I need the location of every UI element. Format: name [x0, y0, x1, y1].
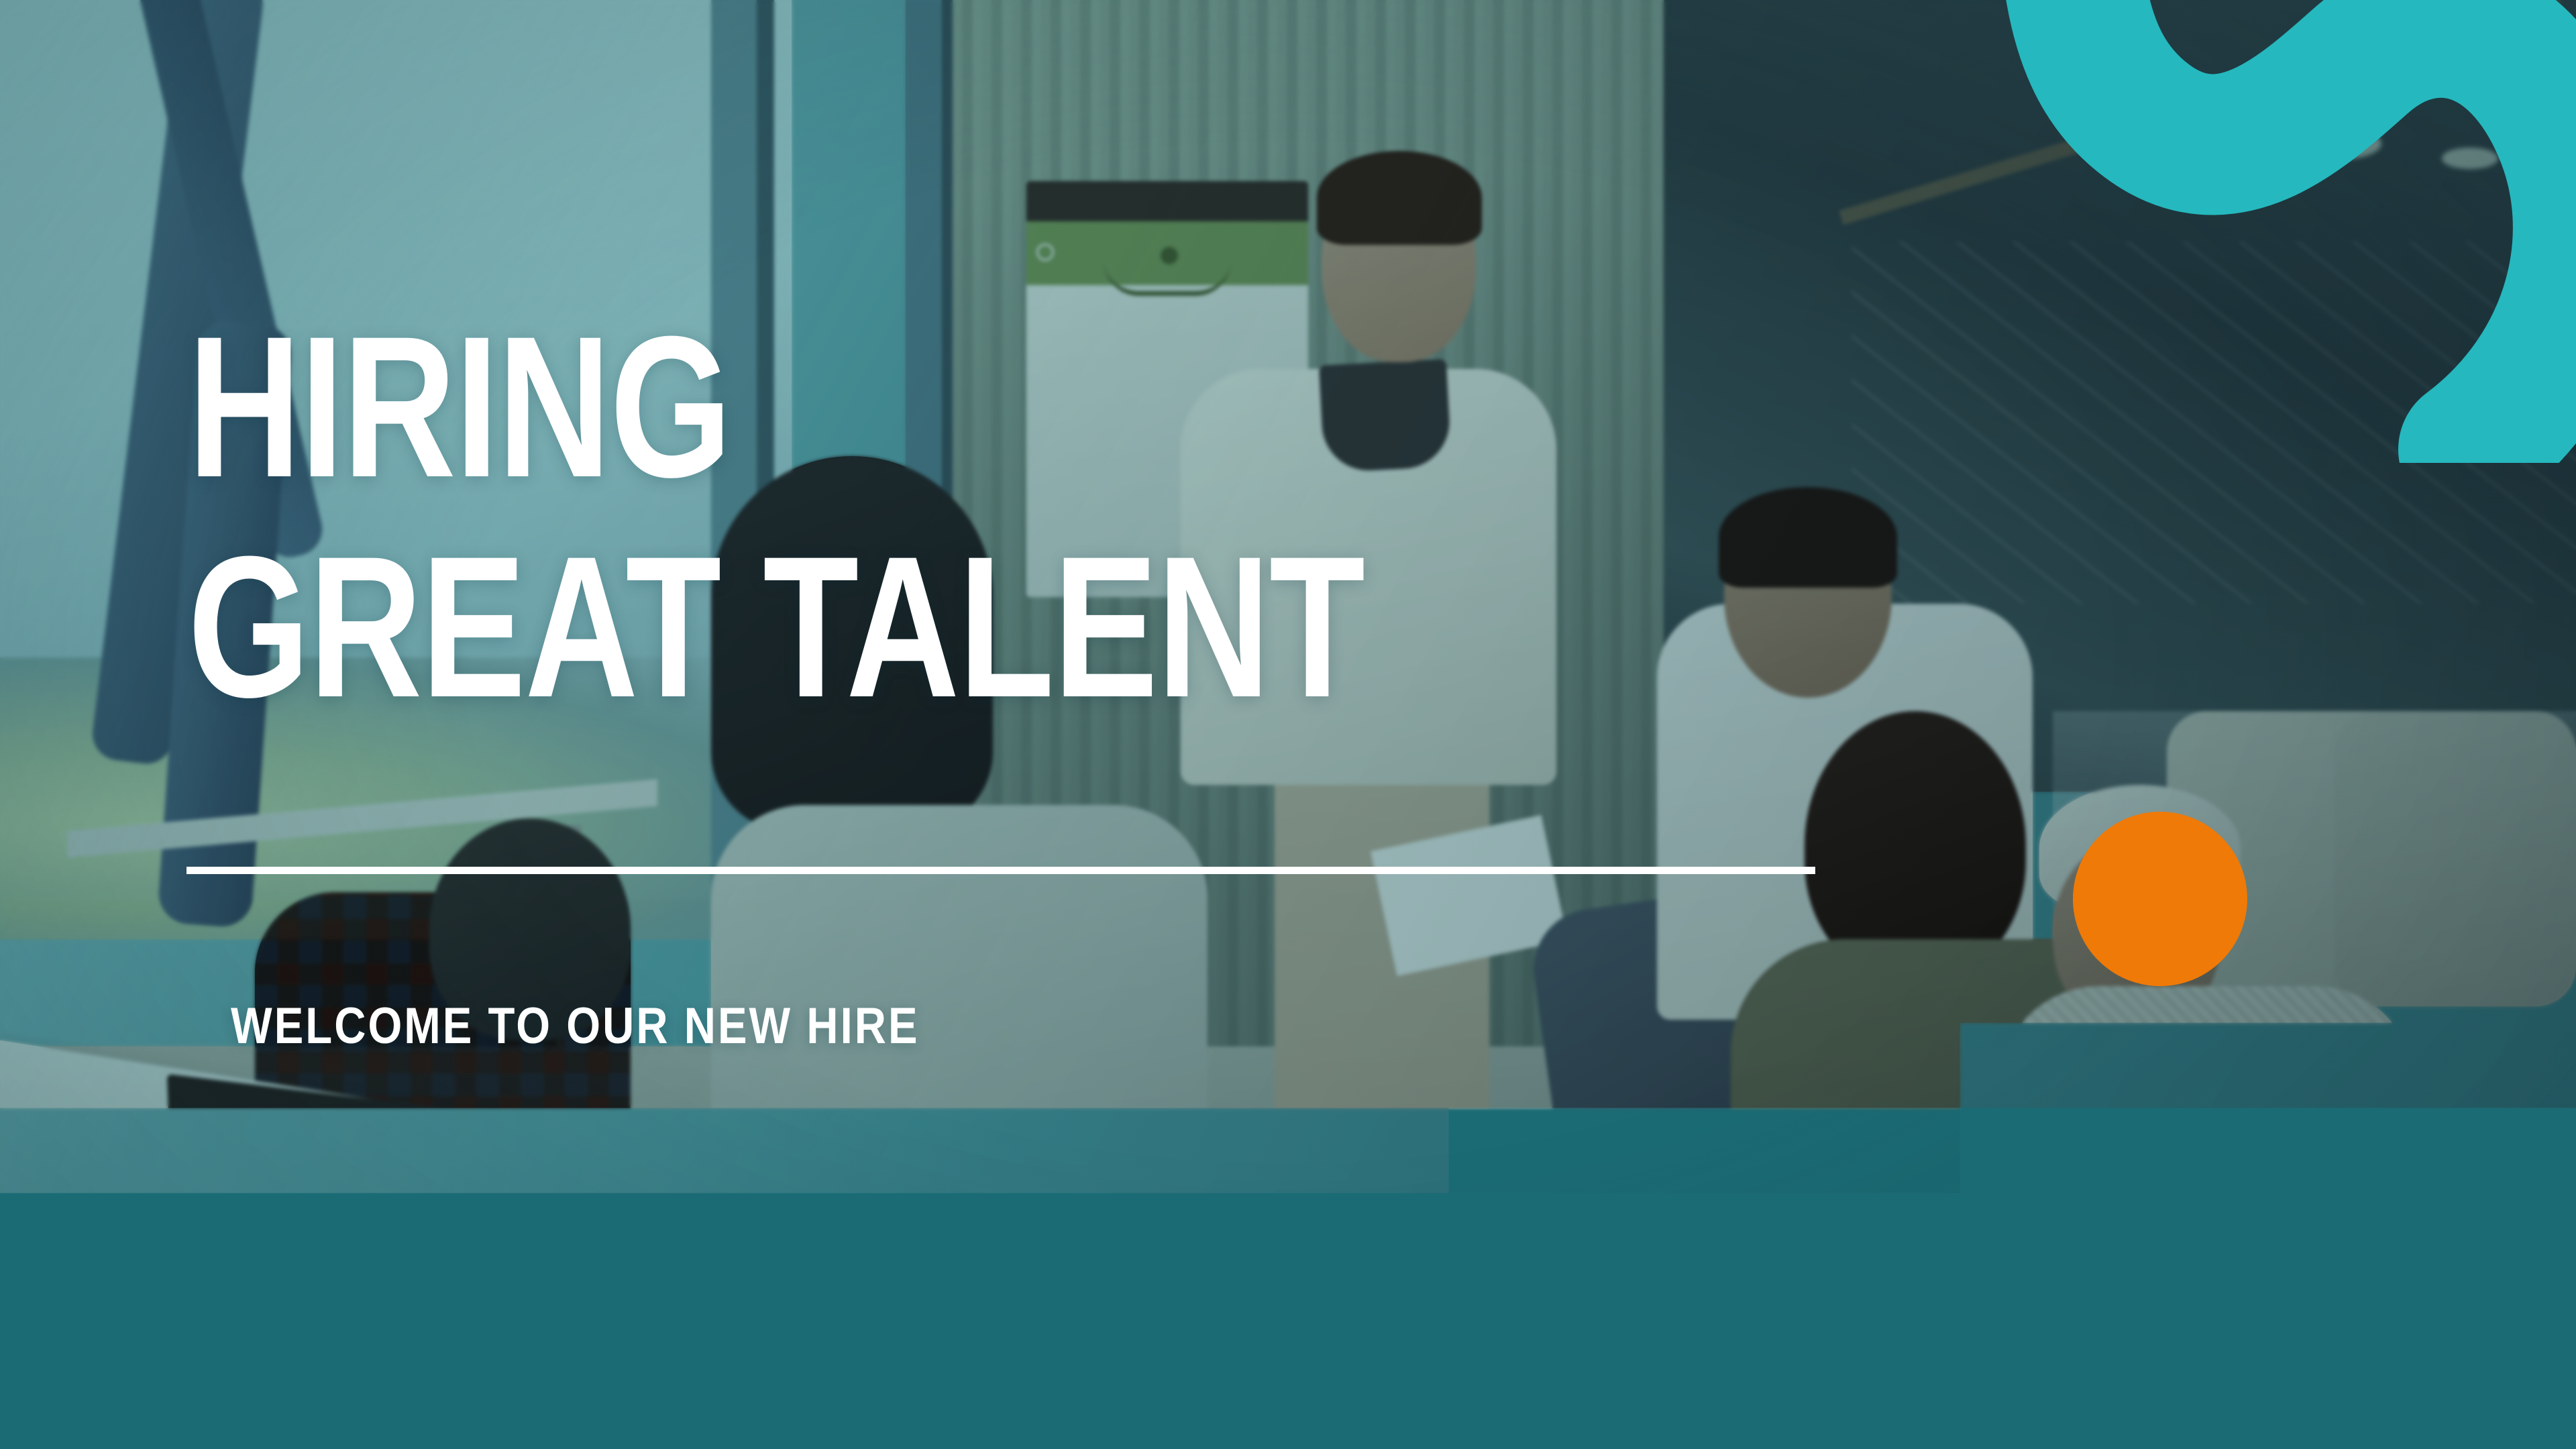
headline-line-2: GREAT TALENT [188, 534, 1364, 719]
poster-content: HIRING GREAT TALENT WELCOME TO OUR NEW H… [0, 0, 2576, 1449]
poster-canvas: HIRING GREAT TALENT WELCOME TO OUR NEW H… [0, 0, 2576, 1449]
headline-line-1: HIRING [188, 314, 731, 499]
divider-rule [186, 867, 1815, 874]
subtitle-text: WELCOME TO OUR NEW HIRE [231, 997, 920, 1055]
